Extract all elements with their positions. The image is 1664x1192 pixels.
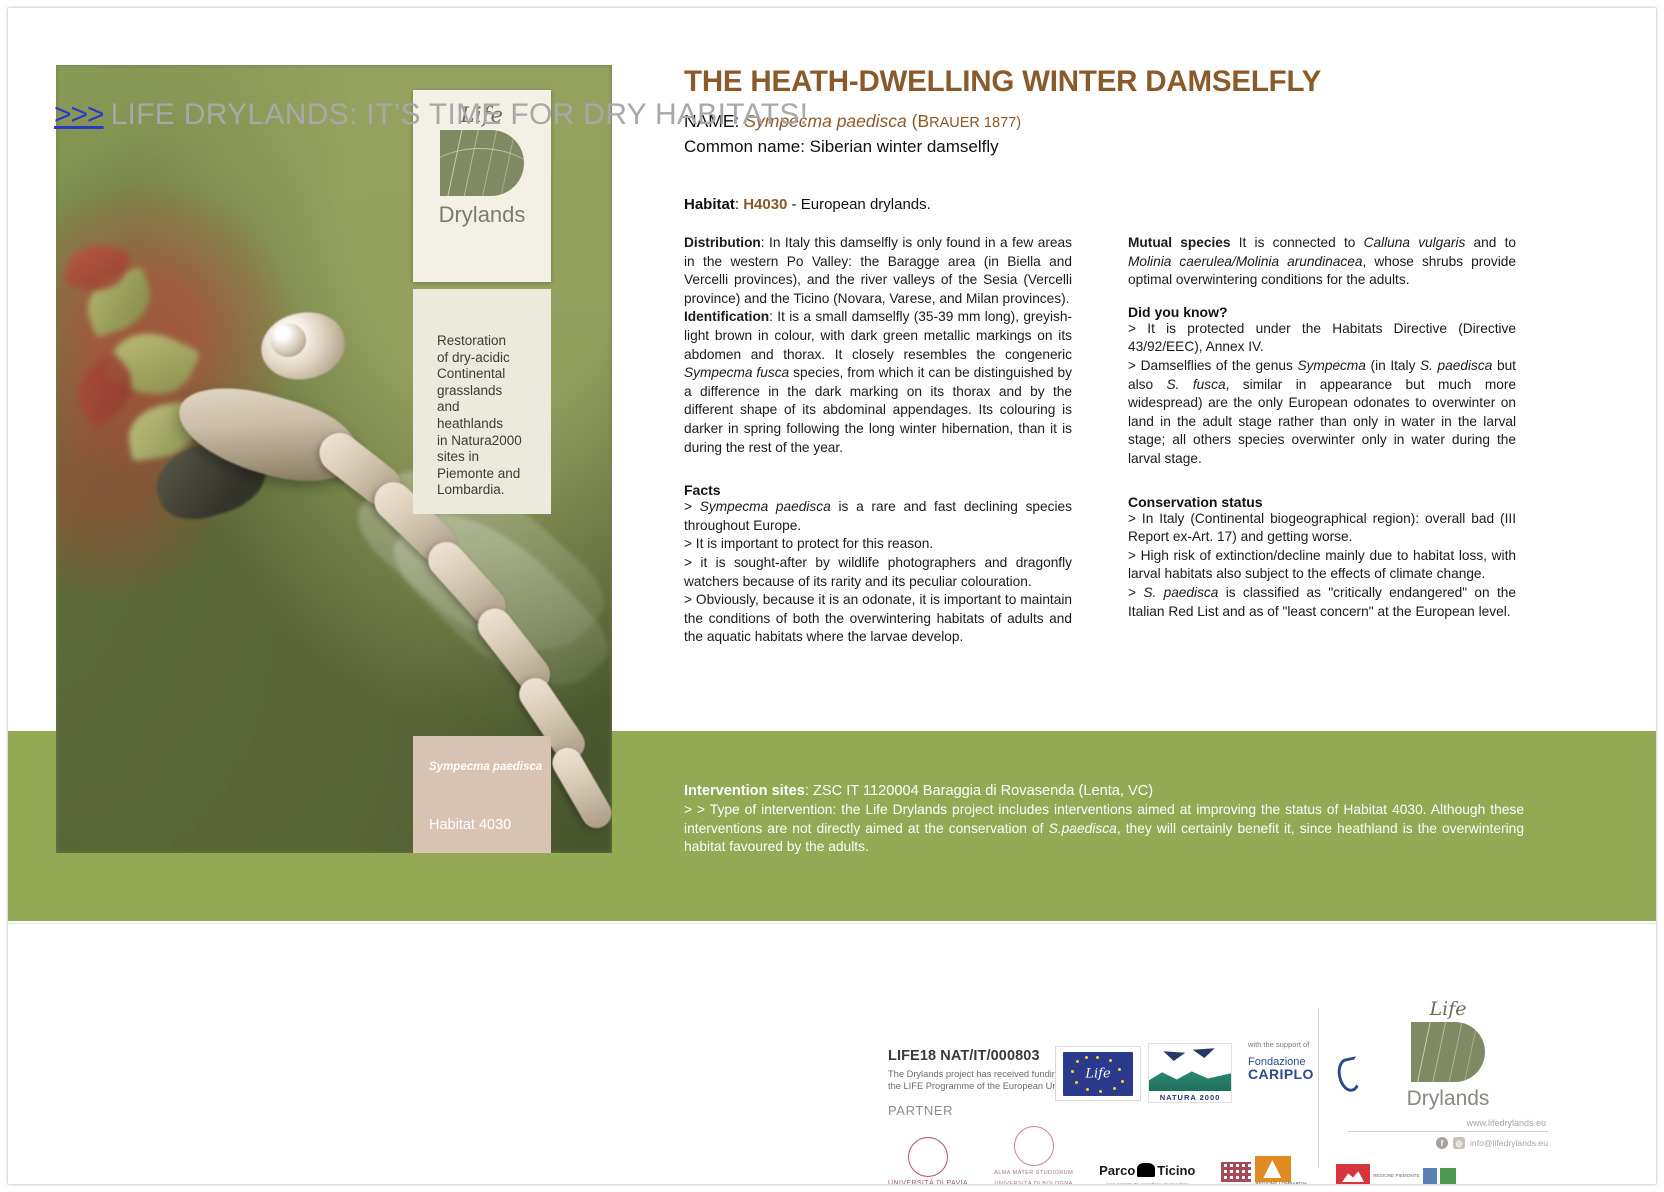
fact-item: > it is sought-after by wildlife photogr… (684, 554, 1072, 591)
intervention-site: : ZSC IT 1120004 Baraggia di Rovasenda (… (805, 783, 1153, 799)
fact-item: > Obviously, because it is an odonate, i… (684, 591, 1072, 647)
bologna-seal-icon (1014, 1126, 1054, 1166)
parco-lago-maggiore-icon (1336, 1164, 1370, 1184)
footer-vertical-divider (1318, 1008, 1319, 1168)
dyk-text-a: > Damselflies of the genus (1128, 358, 1297, 373)
natura-label: NATURA 2000 (1149, 1093, 1231, 1102)
authority-year: 1877) (980, 115, 1021, 131)
partner-name: ALMA MATER STUDIORUM (994, 1169, 1073, 1177)
habitat-rest: - European drylands. (787, 196, 930, 213)
eu-flag-icon: Life (1063, 1052, 1133, 1096)
cons-text-a: > (1128, 585, 1143, 600)
authority-prefix: (B (912, 111, 930, 131)
intervention-species: S.paedisca (1049, 821, 1117, 836)
pavia-seal-icon (908, 1137, 948, 1177)
rete-orti-icon (1440, 1168, 1456, 1184)
habitat-line: Habitat: H4030 - European drylands. (684, 196, 1534, 213)
partner-logo-group-right: REGIONE PIEMONTE (1333, 1164, 1455, 1184)
page-title: THE HEATH-DWELLING WINTER DAMSELFLY (684, 65, 1534, 99)
mutual-species-paragraph: Mutual species It is connected to Callun… (1128, 234, 1516, 290)
caption-habitat-code: Habitat 4030 (413, 773, 551, 833)
instagram-icon[interactable]: ◎ (1453, 1137, 1465, 1149)
partner-name: REGIONE LOMBARDIA (1255, 1182, 1307, 1184)
fact-item: > Sympecma paedisca is a rare and fast d… (684, 498, 1072, 535)
scientific-name-line: NAME: Sympecma paedisca (BRAUER 1877) (684, 110, 1534, 134)
slogan-text: LIFE DRYLANDS: IT’S TIME FOR DRY HABITAT… (111, 98, 809, 131)
habitat-code: H4030 (743, 196, 787, 213)
partner-name: REGIONE PIEMONTE (1373, 1173, 1419, 1179)
cons-species: S. paedisca (1143, 585, 1218, 600)
fact-item: > It is important to protect for this re… (684, 535, 1072, 554)
column-left: Distribution: In Italy this damselfly is… (684, 234, 1072, 647)
mutual-species-2: Molinia caerulea/Molinia arundinacea (1128, 254, 1362, 269)
dyk-species-2: S. fusca (1167, 377, 1226, 392)
intervention-heading: Intervention sites: ZSC IT 1120004 Barag… (684, 782, 1524, 801)
identification-label: Identification (684, 309, 769, 324)
did-you-know-item: > Damselflies of the genus Sympecma (in … (1128, 357, 1516, 469)
ticino-tagline: Area protetta Po vercellese alessandrino (1099, 1182, 1195, 1184)
column-right: Mutual species It is connected to Callun… (1128, 234, 1516, 647)
conservation-heading: Conservation status (1128, 494, 1516, 510)
contact-row: f ◎ info@lifedrylands.eu (1348, 1137, 1548, 1149)
dyk-text-b: (in Italy (1366, 358, 1420, 373)
drylands-life-wordmark: Life (1348, 998, 1548, 1020)
natura-2000-logo: NATURA 2000 (1148, 1043, 1232, 1103)
dyk-species-1: S. paedisca (1420, 358, 1492, 373)
life-wordmark: Life (1085, 1066, 1110, 1081)
poster-page: Life Drylands Restoration of dry-acidic … (8, 8, 1656, 1184)
mutual-text-1: It is connected to (1231, 235, 1364, 250)
partner-logo-regione-lombardia: REGIONE LOMBARDIA (1221, 1156, 1307, 1184)
conservation-item: > S. paedisca is classified as "critical… (1128, 584, 1516, 621)
area-protetta-icon (1255, 1156, 1291, 1182)
facebook-icon[interactable]: f (1436, 1137, 1448, 1149)
intervention-body: > > Type of intervention: the Life Dryla… (684, 801, 1524, 857)
email-address[interactable]: info@lifedrylands.eu (1470, 1138, 1548, 1148)
did-you-know-heading: Did you know? (1128, 304, 1516, 320)
common-name: Common name: Siberian winter damselfly (684, 137, 1534, 157)
did-you-know-item: > It is protected under the Habitats Dir… (1128, 320, 1516, 357)
eye (270, 323, 306, 357)
photo-caption-card: Sympecma paedisca Habitat 4030 (413, 736, 551, 853)
project-description-card: Restoration of dry-acidic Continental gr… (413, 289, 551, 514)
two-column-body: Distribution: In Italy this damselfly is… (684, 234, 1534, 647)
intervention-block: Intervention sites: ZSC IT 1120004 Barag… (684, 782, 1524, 857)
partner-subname: UNIVERSITÀ DI BOLOGNA (994, 1180, 1073, 1184)
heron-icon (1137, 1163, 1155, 1177)
support-label: with the support of (1248, 1040, 1314, 1049)
regione-grid-icon (1221, 1162, 1251, 1182)
partner-logo-bologna: ALMA MATER STUDIORUM UNIVERSITÀ DI BOLOG… (994, 1126, 1073, 1184)
fact-species: Sympecma paedisca (700, 499, 831, 514)
habitat-label: Habitat (684, 196, 735, 213)
partner-logo-pavia: UNIVERSITÀ DI PAVIA (888, 1137, 968, 1184)
partner-logo-parco-ticino: ParcoTicino Area protetta Po vercellese … (1099, 1162, 1195, 1184)
eu-life-logo: Life (1055, 1046, 1141, 1101)
website-url[interactable]: www.lifedrylands.eu (1348, 1118, 1548, 1128)
identification-species: Sympecma fusca (684, 365, 789, 380)
mutual-text-2: and to (1465, 235, 1516, 250)
authority-rest: RAUER (929, 115, 980, 131)
conservation-item: > In Italy (Continental biogeographical … (1128, 510, 1516, 547)
ticino-wordmark: ParcoTicino (1099, 1162, 1195, 1180)
cariplo-text: CARIPLO (1248, 1066, 1314, 1082)
partner-label: PARTNER (888, 1103, 953, 1118)
footer-slogan: >>>LIFE DRYLANDS: IT’S TIME FOR DRY HABI… (54, 98, 808, 132)
distribution-paragraph: Distribution: In Italy this damselfly is… (684, 234, 1072, 308)
conservation-item: > High risk of extinction/decline mainly… (1128, 547, 1516, 584)
drylands-wordmark: Drylands (413, 202, 551, 228)
taxon-authority: (BRAUER 1877) (912, 115, 1021, 131)
article-content: THE HEATH-DWELLING WINTER DAMSELFLY NAME… (684, 65, 1534, 647)
drylands-footer-logo: Life Drylands www.lifedrylands.eu f ◎ in… (1348, 998, 1548, 1149)
damselfly-photo: Life Drylands Restoration of dry-acidic … (56, 65, 612, 853)
project-description-text: Restoration of dry-acidic Continental gr… (437, 333, 522, 497)
identification-paragraph: Identification: It is a small damselfly … (684, 308, 1072, 457)
slogan-arrows-link[interactable]: >>> (54, 98, 104, 131)
intervention-label: Intervention sites (684, 783, 805, 799)
partner-subname: Ticino (1157, 1163, 1195, 1178)
partner-name: UNIVERSITÀ DI PAVIA (888, 1180, 968, 1184)
distribution-label: Distribution (684, 235, 761, 250)
orti-botanici-icon (1423, 1168, 1437, 1184)
dyk-genus: Sympecma (1297, 358, 1365, 373)
footer-divider (8, 923, 1656, 924)
mutual-species-1: Calluna vulgaris (1364, 235, 1466, 250)
facts-heading: Facts (684, 482, 1072, 498)
caption-scientific-name: Sympecma paedisca (413, 736, 551, 773)
contact-divider (1348, 1131, 1548, 1132)
partner-name: Parco (1099, 1163, 1135, 1178)
drylands-wordmark: Drylands (1348, 1087, 1548, 1111)
drylands-d-icon (440, 130, 524, 196)
mutual-species-label: Mutual species (1128, 235, 1231, 250)
cariplo-support-block: with the support of Fondazione CARIPLO (1248, 1040, 1314, 1082)
drylands-d-icon (1411, 1022, 1485, 1082)
cariplo-wordmark: Fondazione CARIPLO (1248, 1056, 1314, 1082)
